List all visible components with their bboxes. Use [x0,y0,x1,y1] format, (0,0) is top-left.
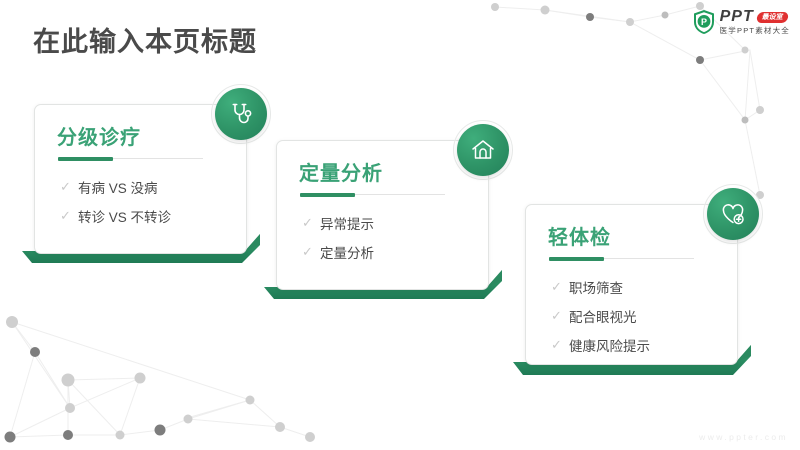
list-item-label: 健康风险提示 [569,335,650,355]
list-item-label: 转诊 VS 不转诊 [78,206,171,226]
badge-disc [457,124,509,176]
card-group-2: 定量分析 ✓ 异常提示 ✓ 定量分析 [262,132,524,312]
heart-plus-icon [719,200,747,228]
list-item[interactable]: ✓ 有病 VS 没病 [60,172,171,201]
list-item-label: 异常提示 [320,213,374,233]
list-item[interactable]: ✓ 健康风险提示 [551,330,650,359]
home-icon [469,136,497,164]
card-2-divider [300,194,445,195]
card-group-1: 分级诊疗 ✓ 有病 VS 没病 ✓ 转诊 VS 不转诊 [20,96,282,276]
card-2-list: ✓ 异常提示 ✓ 定量分析 [302,208,374,266]
list-item-label: 有病 VS 没病 [78,177,158,197]
card-3-divider [549,258,694,259]
stethoscope-icon [227,100,255,128]
card-3-list: ✓ 职场筛查 ✓ 配合眼视光 ✓ 健康风险提示 [551,272,650,359]
list-item-label: 定量分析 [320,242,374,262]
badge-disc [707,188,759,240]
card-1-list: ✓ 有病 VS 没病 ✓ 转诊 VS 不转诊 [60,172,171,230]
list-item-label: 配合眼视光 [569,306,637,326]
logo-badge: 最设室 [756,12,789,23]
check-icon: ✓ [60,209,78,222]
svg-text:P: P [701,17,707,27]
check-icon: ✓ [60,180,78,193]
check-icon: ✓ [551,309,569,322]
list-item[interactable]: ✓ 职场筛查 [551,272,650,301]
shield-logo-icon: P [692,9,716,35]
check-icon: ✓ [551,338,569,351]
card-3-title: 轻体检 [548,221,611,250]
badge-disc [215,88,267,140]
footer-watermark: www.ppter.com [699,432,788,442]
card-1-title: 分级诊疗 [57,121,141,150]
list-item[interactable]: ✓ 配合眼视光 [551,301,650,330]
list-item[interactable]: ✓ 转诊 VS 不转诊 [60,201,171,230]
card-1-icon-badge[interactable] [215,88,267,140]
card-1-divider [58,158,203,159]
check-icon: ✓ [302,216,320,229]
card-2-icon-badge[interactable] [457,124,509,176]
list-item[interactable]: ✓ 异常提示 [302,208,374,237]
list-item[interactable]: ✓ 定量分析 [302,237,374,266]
logo-subtitle: 医学PPT素材大全 [720,27,790,35]
card-3-icon-badge[interactable] [707,188,759,240]
card-2-title: 定量分析 [299,157,383,186]
card-group-3: 轻体检 ✓ 职场筛查 ✓ 配合眼视光 ✓ 健康风险提示 [505,196,780,386]
page-title: 在此输入本页标题 [33,20,257,59]
logo-brand-text: PPT [720,9,754,25]
list-item-label: 职场筛查 [569,277,623,297]
check-icon: ✓ [551,280,569,293]
brand-logo: P PPT 最设室 医学PPT素材大全 [692,7,790,37]
slide-canvas: 在此输入本页标题 P PPT 最设室 医学PPT素材大全 [0,0,800,450]
check-icon: ✓ [302,245,320,258]
